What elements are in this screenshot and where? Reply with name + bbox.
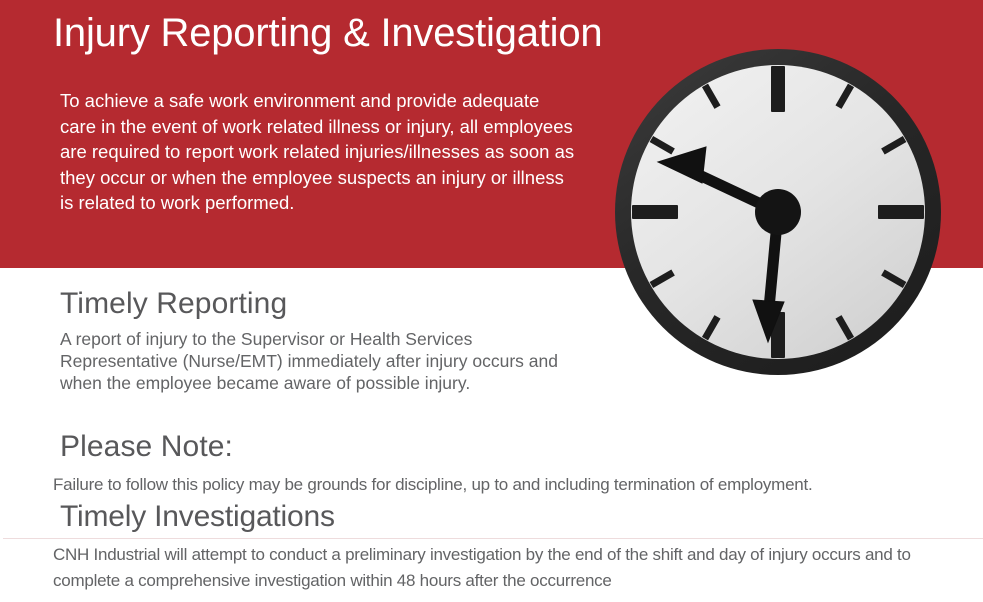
body-please-note: Failure to follow this policy may be gro…	[0, 465, 953, 498]
heading-please-note: Please Note:	[0, 430, 983, 465]
body-timely-investigations: CNH Industrial will attempt to conduct a…	[0, 535, 953, 595]
hero-policy-statement: To achieve a safe work environment and p…	[60, 88, 580, 216]
heading-timely-investigations: Timely Investigations	[0, 500, 983, 535]
slide-canvas: Injury Reporting & Investigation To achi…	[0, 0, 983, 602]
section-timely-investigations: Timely Investigations CNH Industrial wil…	[0, 500, 983, 594]
body-timely-reporting: A report of injury to the Supervisor or …	[0, 322, 560, 395]
section-please-note: Please Note: Failure to follow this poli…	[0, 430, 983, 498]
section-timely-reporting: Timely Reporting A report of injury to t…	[0, 287, 983, 395]
content-divider	[3, 538, 983, 539]
heading-timely-reporting: Timely Reporting	[0, 287, 983, 322]
hero-banner: Injury Reporting & Investigation To achi…	[0, 0, 983, 268]
page-title: Injury Reporting & Investigation	[53, 8, 753, 58]
